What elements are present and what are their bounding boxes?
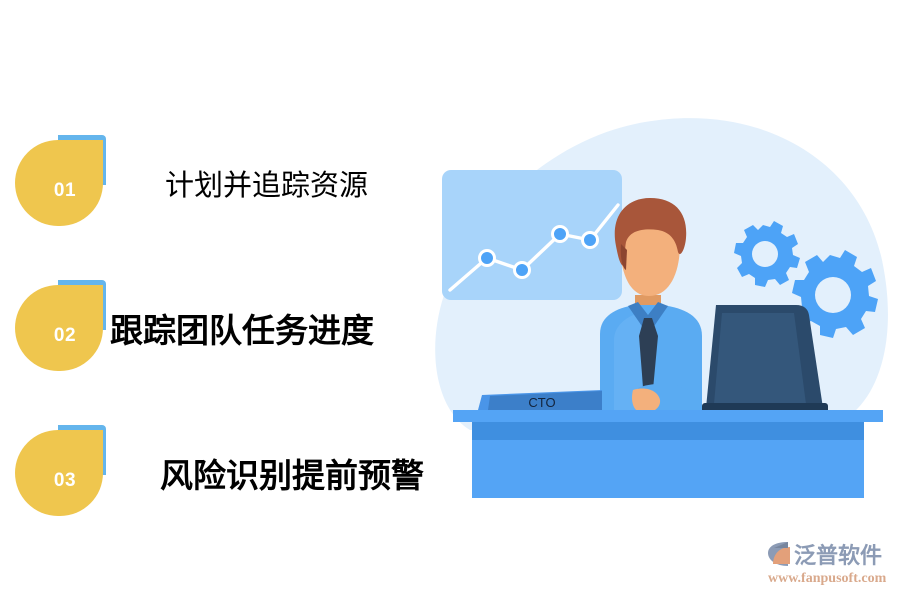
laptop [702,305,828,413]
brand-name-cn: 泛普软件 [794,543,882,568]
desk-top [453,410,883,422]
desk-apron [472,422,864,440]
feature-number-02: 02 [54,325,76,347]
feature-number-01: 01 [54,180,76,202]
feature-label-03: 风险识别提前预警 [160,449,424,497]
chart-point [515,263,530,278]
fanpu-mark-icon [768,542,790,566]
feature-item-01[interactable]: 01 计划并追踪资源 [0,133,450,233]
chart-panel [442,170,622,300]
feature-label-01: 计划并追踪资源 [165,162,368,204]
chart-point [553,227,568,242]
chart-point [480,251,495,266]
brand-logo-svg: 泛普软件 www.fanpusoft.com [762,538,897,590]
chart-point [583,233,598,248]
feature-badge-03: 03 [15,423,115,523]
feature-badge-01: 01 [15,133,115,233]
brand-website: www.fanpusoft.com [768,571,887,586]
cto-at-desk-illustration: CTO [430,110,900,540]
feature-number-03: 03 [54,470,76,492]
badge-blob-shape: 01 [15,140,103,226]
badge-blob-shape: 02 [15,285,103,371]
slide-canvas: 01 计划并追踪资源 02 跟踪团队任务进度 03 风险识别提前 [0,0,900,600]
illustration-svg: CTO [430,110,900,540]
desk [453,410,883,498]
feature-item-03[interactable]: 03 风险识别提前预警 [0,423,450,523]
desk-front [472,440,864,498]
nameplate-label: CTO [528,395,555,410]
feature-list: 01 计划并追踪资源 02 跟踪团队任务进度 03 风险识别提前 [0,0,450,600]
feature-label-02: 跟踪团队任务进度 [110,304,374,352]
laptop-screen-inner [714,313,806,404]
feature-badge-02: 02 [15,278,115,378]
badge-blob-shape: 03 [15,430,103,516]
brand-logo: 泛普软件 www.fanpusoft.com [762,538,897,590]
feature-item-02[interactable]: 02 跟踪团队任务进度 [0,278,450,378]
